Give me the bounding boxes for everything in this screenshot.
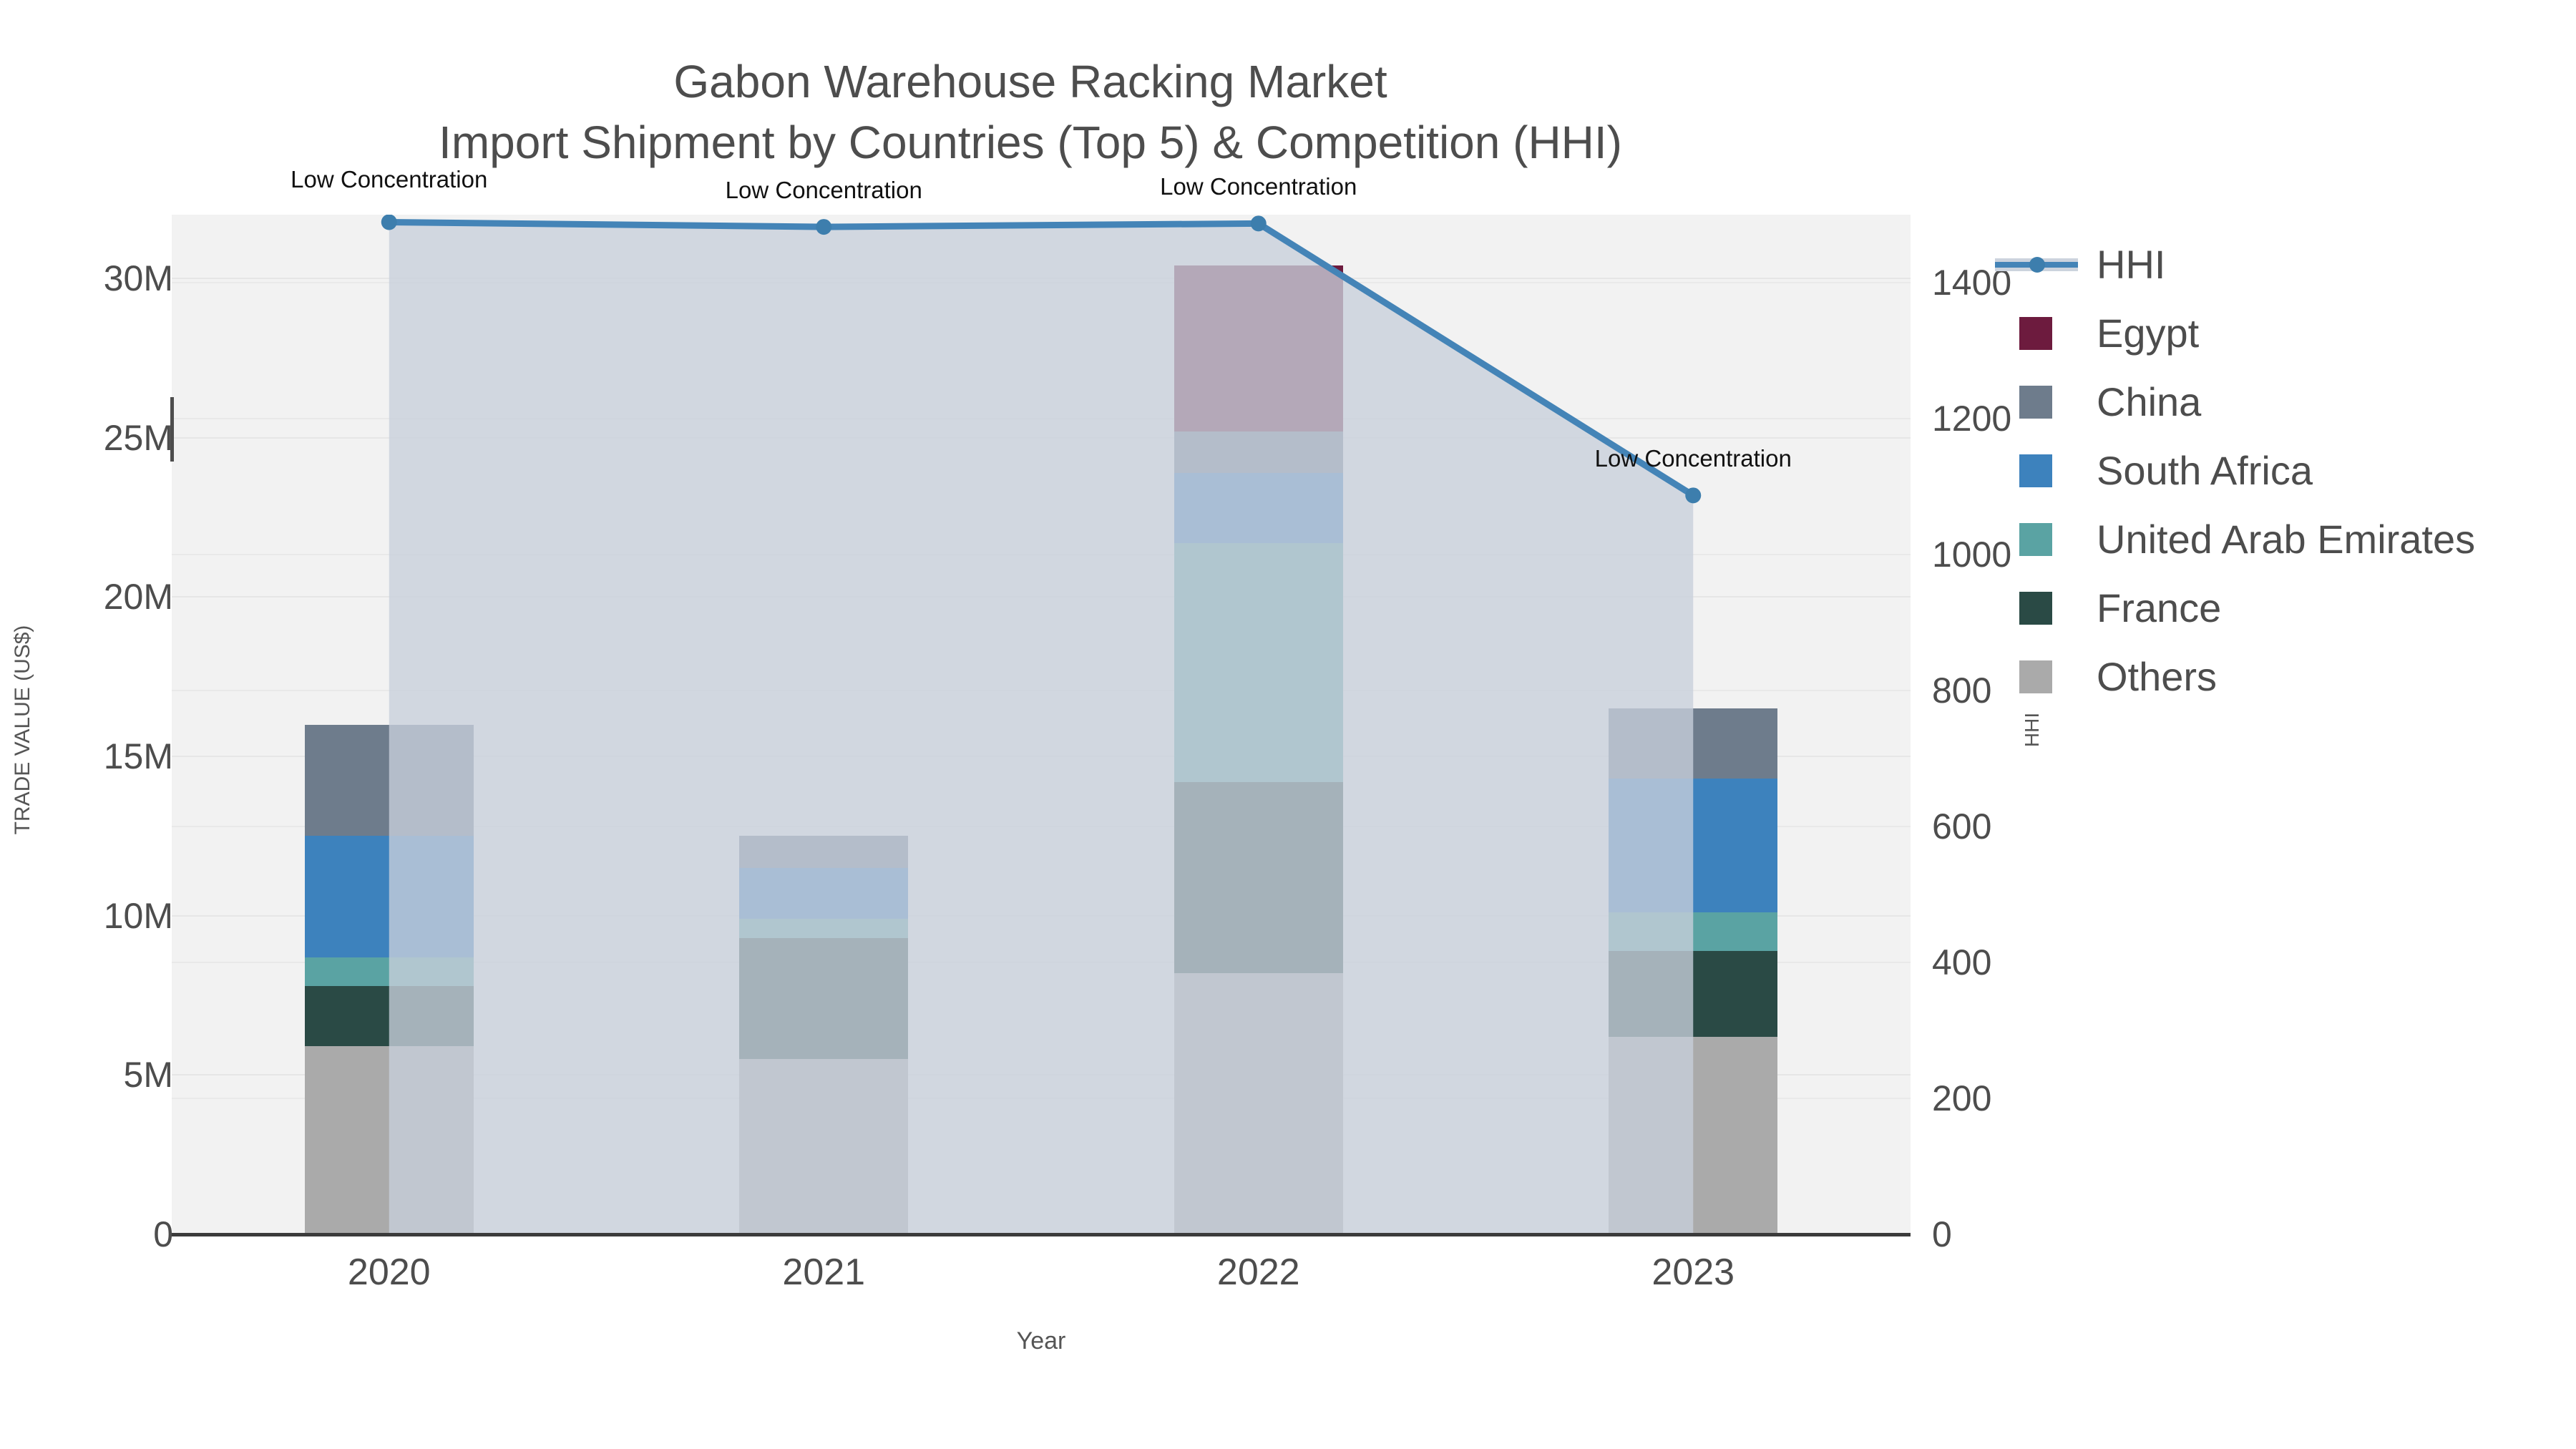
hhi-line-swatch-icon — [1995, 248, 2078, 281]
bar-segment-china[interactable] — [1174, 431, 1343, 473]
x-axis-line — [172, 1233, 1911, 1236]
bar-group-2021[interactable] — [739, 215, 908, 1234]
y-tick-left-2: 10M — [104, 898, 173, 934]
legend-item-label: China — [2097, 382, 2201, 422]
legend-color-swatch-icon — [1995, 592, 2078, 625]
bar-segment-south-africa[interactable] — [1174, 473, 1343, 543]
legend-swatch — [2019, 592, 2052, 625]
legend-item-label: HHI — [2097, 245, 2165, 285]
bar-segment-south-africa[interactable] — [1609, 779, 1777, 912]
bar-group-2022[interactable] — [1174, 215, 1343, 1234]
legend-color-swatch-icon — [1995, 523, 2078, 556]
y-axis-right-label: HHI — [2021, 713, 2044, 747]
bar-segment-united-arab-emirates[interactable] — [739, 919, 908, 938]
legend-item-label: United Arab Emirates — [2097, 519, 2475, 560]
bar-segment-china[interactable] — [1609, 708, 1777, 779]
bar-segment-china[interactable] — [305, 725, 474, 836]
bar-segment-france[interactable] — [1174, 782, 1343, 973]
chart-legend: HHIEgyptChinaSouth AfricaUnited Arab Emi… — [1995, 230, 2475, 711]
x-tick-2023: 2023 — [1652, 1251, 1735, 1294]
legend-item-label: Egypt — [2097, 313, 2199, 353]
annotation-low-concentration-2022: Low Concentration — [1160, 173, 1357, 200]
bar-group-2020[interactable] — [305, 215, 474, 1234]
legend-color-swatch-icon — [1995, 454, 2078, 487]
legend-item-china[interactable]: China — [1995, 368, 2475, 436]
bar-segment-south-africa[interactable] — [305, 836, 474, 957]
legend-color-swatch-icon — [1995, 660, 2078, 693]
bar-segment-united-arab-emirates[interactable] — [305, 957, 474, 986]
y-tick-right-2: 400 — [1932, 945, 1991, 980]
annotation-low-concentration-2021: Low Concentration — [726, 177, 922, 204]
legend-item-label: South Africa — [2097, 451, 2313, 491]
x-tick-2021: 2021 — [782, 1251, 865, 1294]
y-tick-left-0: 0 — [153, 1216, 173, 1252]
chart-subtitle: Import Shipment by Countries (Top 5) & C… — [0, 112, 2061, 173]
legend-item-france[interactable]: France — [1995, 574, 2475, 643]
bar-segment-others[interactable] — [305, 1046, 474, 1234]
x-tick-2022: 2022 — [1217, 1251, 1300, 1294]
bar-segment-united-arab-emirates[interactable] — [1609, 912, 1777, 950]
bar-segment-china[interactable] — [739, 836, 908, 868]
bar-segment-united-arab-emirates[interactable] — [1174, 543, 1343, 782]
legend-item-united-arab-emirates[interactable]: United Arab Emirates — [1995, 505, 2475, 574]
y-tick-left-1: 5M — [124, 1057, 173, 1093]
legend-color-swatch-icon — [1995, 386, 2078, 419]
y-tick-left-4: 20M — [104, 579, 173, 615]
legend-item-egypt[interactable]: Egypt — [1995, 299, 2475, 368]
legend-item-south-africa[interactable]: South Africa — [1995, 436, 2475, 505]
bar-segment-france[interactable] — [305, 986, 474, 1047]
y-tick-left-3: 15M — [104, 738, 173, 774]
x-tick-2020: 2020 — [348, 1251, 431, 1294]
chart-title-block: Gabon Warehouse Racking Market Import Sh… — [0, 52, 2061, 173]
bar-segment-egypt[interactable] — [1174, 265, 1343, 431]
legend-swatch — [2019, 317, 2052, 350]
legend-item-label: France — [2097, 588, 2221, 628]
y-tick-left-5: 25M — [104, 420, 173, 456]
plot-area: Low ConcentrationLow ConcentrationLow Co… — [172, 215, 1911, 1234]
y-tick-right-4: 800 — [1932, 673, 1991, 708]
bar-segment-others[interactable] — [739, 1059, 908, 1234]
legend-item-hhi[interactable]: HHI — [1995, 230, 2475, 299]
y-tick-right-3: 600 — [1932, 809, 1991, 844]
y-tick-right-0: 0 — [1932, 1216, 1952, 1252]
legend-item-label: Others — [2097, 657, 2217, 697]
stacked-bars — [172, 215, 1911, 1234]
legend-line-marker-icon — [2029, 257, 2045, 273]
y-tick-left-6: 30M — [104, 260, 173, 296]
bar-segment-others[interactable] — [1174, 973, 1343, 1234]
bar-group-2023[interactable] — [1609, 215, 1777, 1234]
bar-segment-others[interactable] — [1609, 1037, 1777, 1234]
bar-segment-france[interactable] — [739, 938, 908, 1059]
legend-swatch — [2019, 386, 2052, 419]
legend-swatch — [2019, 523, 2052, 556]
x-axis-label: Year — [1017, 1327, 1066, 1355]
y-axis-left-label: TRADE VALUE (US$) — [11, 625, 35, 835]
y-tick-right-1: 200 — [1932, 1080, 1991, 1116]
legend-item-others[interactable]: Others — [1995, 643, 2475, 711]
legend-swatch — [2019, 660, 2052, 693]
bar-segment-france[interactable] — [1609, 951, 1777, 1037]
chart-title: Gabon Warehouse Racking Market — [0, 52, 2061, 112]
legend-swatch — [2019, 454, 2052, 487]
legend-color-swatch-icon — [1995, 317, 2078, 350]
bar-segment-south-africa[interactable] — [739, 868, 908, 919]
